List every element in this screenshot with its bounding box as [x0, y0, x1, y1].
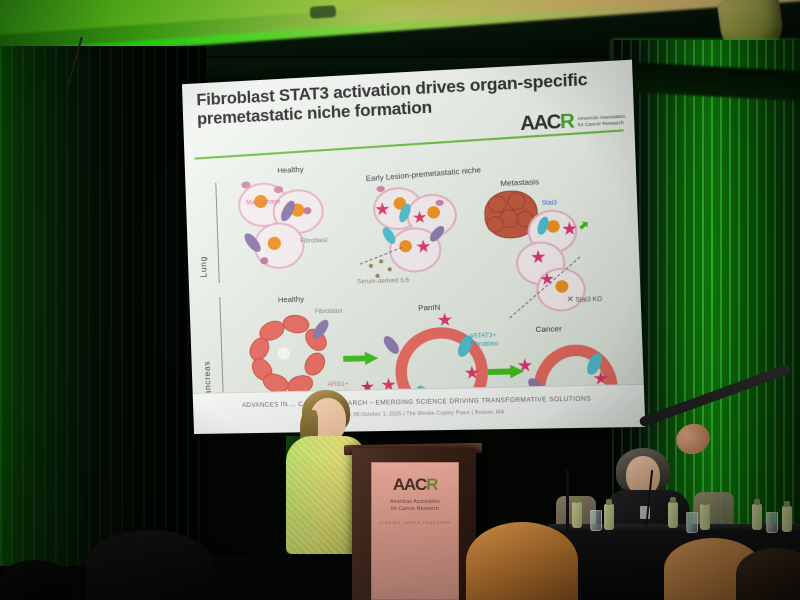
row-rule-lung	[215, 183, 219, 283]
row-label-pancreas: Pancreas	[200, 305, 213, 401]
water-glass	[686, 512, 698, 533]
aacr-logo-subtitle: American Association for Cancer Research	[577, 114, 625, 128]
podium-subtitle: American Association for Cancer Research	[390, 499, 440, 513]
slide-footer: ADVANCES IN ... CANCER RESEARCH – EMERGI…	[193, 384, 646, 434]
label-macrophage: Macrophage	[246, 198, 280, 206]
activated-fibroblast	[437, 313, 452, 328]
water-bottle	[572, 502, 582, 528]
water-bottle	[700, 504, 710, 530]
progression-arrow-1	[343, 351, 379, 365]
podium: AACR American Association for Cancer Res…	[352, 448, 476, 600]
podium-subtitle-line2: for Cancer Research	[390, 506, 440, 513]
podium-aacr-wordmark: AACR	[393, 475, 437, 495]
row-label-lung: Lung	[196, 191, 209, 277]
col-header-lung-early: Early Lesion-premetastatic niche	[365, 165, 481, 183]
audience-head	[86, 530, 214, 600]
podium-sign: AACR American Association for Cancer Res…	[371, 462, 459, 600]
water-bottle	[604, 504, 614, 530]
stat3-arrow-icon	[578, 219, 591, 231]
ceiling-fixture-small	[310, 5, 337, 19]
podium-footer-url: aacr.org	[408, 590, 422, 594]
podium-tagline: FINDING CURES TOGETHER	[379, 521, 450, 525]
x-mark-icon: ✕	[567, 294, 575, 304]
water-glass	[590, 510, 602, 531]
aacr-subtitle-line2: for Cancer Research	[578, 120, 626, 128]
podium-subtitle-line1: American Association	[390, 499, 440, 506]
title-divider	[194, 129, 623, 159]
label-panc-fibroblast: Fibroblast	[315, 308, 343, 316]
il6-particle	[388, 267, 392, 271]
acinar-lumen	[277, 348, 290, 360]
label-fibroblast: Fibroblast	[300, 237, 328, 245]
col-header-lung-metastasis: Metastasis	[500, 177, 539, 188]
footer-date-venue: September 28-October 1, 2025 | The Westi…	[193, 407, 644, 421]
audience-head	[736, 548, 800, 600]
stage-curtain-left	[0, 46, 206, 566]
water-bottle	[782, 506, 792, 532]
water-bottle	[752, 504, 762, 530]
projection-screen: Fibroblast STAT3 activation drives organ…	[182, 60, 645, 434]
water-glass	[766, 512, 778, 533]
col-header-lung-healthy: Healthy	[277, 165, 303, 175]
audience-head	[0, 560, 70, 600]
label-serum-derived-il6: Serum-derived IL6	[357, 277, 409, 286]
label-arg1-macrophage-line1: ARG1+	[328, 381, 349, 389]
water-bottle	[668, 502, 678, 528]
table-mic-stand	[566, 470, 569, 532]
col-header-panc-healthy: Healthy	[278, 294, 304, 304]
col-header-panc-panin: PanIN	[418, 303, 440, 313]
conference-room-scene: Fibroblast STAT3 activation drives organ…	[0, 0, 800, 600]
label-pstat3-fibroblast-line1: pSTAT3+	[470, 332, 497, 340]
col-header-panc-cancer: Cancer	[535, 324, 562, 334]
label-stat3-ko: Stat3 KO	[575, 296, 602, 304]
il6-particle	[379, 259, 383, 263]
progression-arrow-2	[488, 364, 525, 378]
label-pstat3-fibroblast-line2: Fibroblast	[470, 340, 499, 348]
audience-head	[466, 522, 578, 600]
label-stat3: Stat3	[542, 199, 558, 207]
il6-particle	[369, 264, 373, 268]
